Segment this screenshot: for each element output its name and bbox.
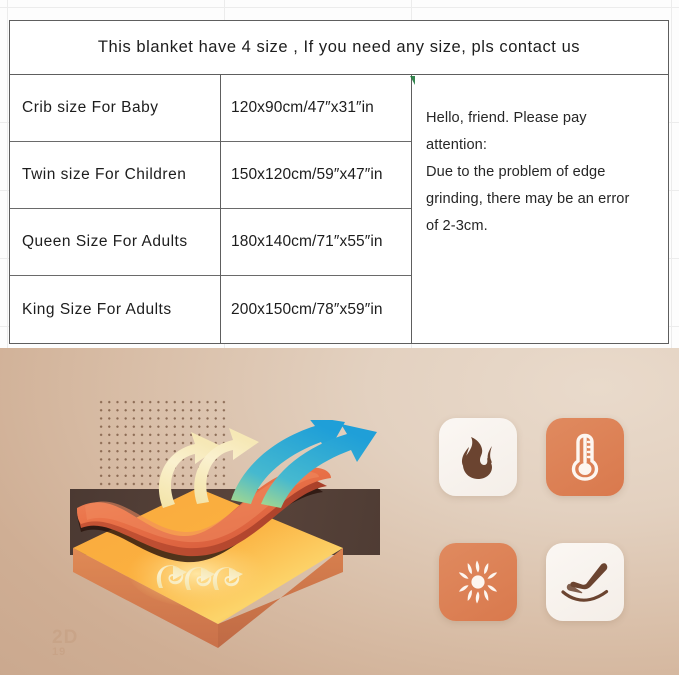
table-row: King Size For Adults: [10, 276, 220, 343]
table-row: Queen Size For Adults: [10, 209, 220, 276]
note-line: attention:: [426, 132, 652, 159]
watermark: 2D 19: [52, 630, 78, 660]
sun-icon: [454, 558, 502, 606]
note-column: Hello, friend. Please pay attention: Due…: [412, 75, 668, 343]
thermometer-icon: [568, 433, 602, 481]
table-row: 150x120cm/59″x47″in: [221, 142, 411, 209]
table-body: Crib size For Baby Twin size For Childre…: [10, 75, 668, 343]
note-line: of 2-3cm.: [426, 213, 652, 240]
note-line: grinding, there may be an error: [426, 186, 652, 213]
table-header-row: This blanket have 4 size , If you need a…: [10, 21, 668, 75]
table-row: 200x150cm/78″x59″in: [221, 276, 411, 343]
feature-tile-temperature: [546, 418, 624, 496]
hand-softness-icon: [560, 562, 610, 602]
table-row: 120x90cm/47″x31″in: [221, 75, 411, 142]
blanket-layers-illustration: [55, 420, 400, 655]
dimensions-column: 120x90cm/47″x31″in 150x120cm/59″x47″in 1…: [221, 75, 412, 343]
feature-tile-flame: [439, 418, 517, 496]
feature-tile-sun: [439, 543, 517, 621]
table-row: Crib size For Baby: [10, 75, 220, 142]
size-name-column: Crib size For Baby Twin size For Childre…: [10, 75, 221, 343]
note-line: Hello, friend. Please pay: [426, 105, 652, 132]
table-row: Twin size For Children: [10, 142, 220, 209]
note-line: Due to the problem of edge: [426, 159, 652, 186]
flame-icon: [456, 434, 500, 480]
product-size-chart-page: This blanket have 4 size , If you need a…: [0, 0, 679, 675]
size-table: This blanket have 4 size , If you need a…: [9, 20, 669, 344]
table-header-text: This blanket have 4 size , If you need a…: [98, 38, 580, 57]
feature-tile-softness: [546, 543, 624, 621]
table-row: 180x140cm/71″x55″in: [221, 209, 411, 276]
